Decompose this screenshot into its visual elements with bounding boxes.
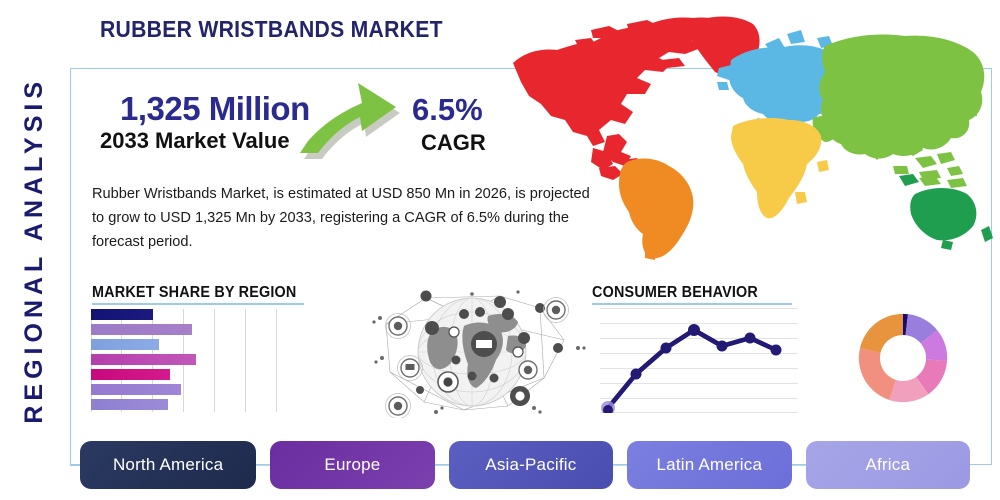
table-row (91, 399, 168, 410)
region-button-africa[interactable]: Africa (806, 441, 970, 489)
region-button-north-america[interactable]: North America (80, 441, 256, 489)
global-network-globe-icon (368, 286, 593, 418)
market-share-heading: MARKET SHARE BY REGION (92, 284, 297, 302)
region-button-label: Latin America (657, 455, 763, 475)
table-row (91, 354, 196, 365)
region-connector (256, 465, 270, 466)
region-button-label: Asia-Pacific (485, 455, 576, 475)
region-button-asia-pacific[interactable]: Asia-Pacific (449, 441, 613, 489)
table-row (91, 369, 170, 380)
regional-share-donut-chart (855, 310, 951, 406)
page-title: RUBBER WRISTBANDS MARKET (100, 16, 443, 43)
consumer-behavior-heading-rule (592, 303, 792, 305)
key-stats: 1,325 Million 2033 Market Value 6.5% CAG… (95, 88, 515, 173)
side-label-text: REGIONAL ANALYSIS (20, 77, 49, 424)
world-map-icon (495, 8, 995, 273)
infographic-root: REGIONAL ANALYSIS RUBBER WRISTBANDS MARK… (0, 0, 1000, 500)
table-row (91, 309, 153, 320)
vertical-side-label: REGIONAL ANALYSIS (12, 50, 56, 450)
region-button-label: Africa (865, 455, 910, 475)
consumer-behavior-line-chart (600, 308, 798, 413)
cagr-value: 6.5% (412, 92, 483, 128)
region-button-europe[interactable]: Europe (270, 441, 434, 489)
region-button-label: North America (113, 455, 223, 475)
cagr-label: CAGR (421, 130, 486, 156)
region-button-bar: North America Europe Asia-Pacific Latin … (80, 441, 970, 489)
line-chart-series (600, 308, 798, 413)
table-row (91, 339, 159, 350)
region-connector (613, 465, 627, 466)
market-value: 1,325 Million (120, 90, 310, 128)
consumer-behavior-heading: CONSUMER BEHAVIOR (592, 284, 758, 302)
region-button-label: Europe (324, 455, 380, 475)
market-share-heading-rule (92, 303, 304, 305)
region-connector (792, 465, 806, 466)
table-row (91, 324, 192, 335)
region-button-latin-america[interactable]: Latin America (627, 441, 791, 489)
table-row (91, 384, 181, 395)
market-share-bar-chart (91, 309, 306, 412)
market-value-label: 2033 Market Value (100, 128, 290, 154)
region-connector (435, 465, 449, 466)
growth-arrow-icon (300, 83, 410, 173)
